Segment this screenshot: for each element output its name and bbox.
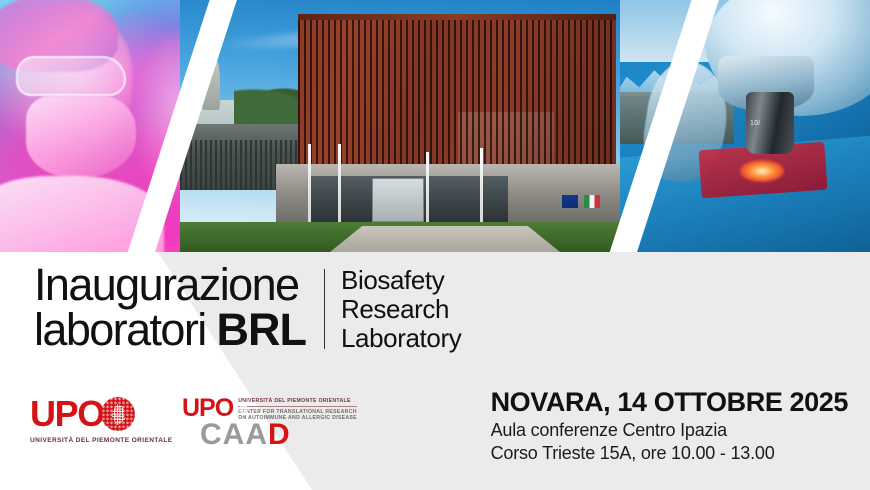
event-date: NOVARA, 14 OTTOBRE 2025 bbox=[491, 388, 848, 416]
caad-fine-line-1: UNIVERSITÀ DEL PIEMONTE ORIENTALE bbox=[238, 398, 357, 407]
upo-logo: UPO UNIVERSITÀ DEL PIEMONTE ORIENTALE bbox=[30, 396, 158, 444]
caad-fine-line-2: CENTER FOR TRANSLATIONAL RESEARCH bbox=[238, 409, 357, 416]
upo-letters: UPO bbox=[30, 396, 104, 432]
event-details: NOVARA, 14 OTTOBRE 2025 Aula conferenze … bbox=[491, 388, 848, 465]
title-divider-rule bbox=[324, 269, 325, 349]
subtitle-line-2: Research bbox=[341, 295, 461, 324]
title-line-2: laboratori BRL bbox=[34, 308, 306, 353]
title-brl-acronym: BRL bbox=[217, 304, 306, 355]
ppe-safety-goggles bbox=[16, 56, 126, 96]
caad-logo: UPO UNIVERSITÀ DEL PIEMONTE ORIENTALE CE… bbox=[182, 396, 352, 450]
illuminator-light bbox=[740, 160, 784, 182]
subtitle-line-1: Biosafety bbox=[341, 266, 461, 295]
objective-magnification-label: 10/ bbox=[750, 120, 790, 127]
italy-flag bbox=[584, 195, 600, 208]
title-block: Inaugurazione laboratori BRL Biosafety R… bbox=[34, 263, 461, 353]
brl-building-photo bbox=[180, 0, 690, 252]
title-line-1: Inaugurazione bbox=[34, 263, 306, 308]
upo-wordmark: UPO bbox=[30, 396, 158, 432]
poster-subtitle: Biosafety Research Laboratory bbox=[341, 266, 461, 353]
logo-row: UPO UNIVERSITÀ DEL PIEMONTE ORIENTALE UP… bbox=[30, 396, 352, 450]
subtitle-line-3: Laboratory bbox=[341, 324, 461, 353]
event-poster: 10/ Inaugurazione laboratori BRL Biosafe… bbox=[0, 0, 870, 490]
title-line-2-regular: laboratori bbox=[34, 304, 217, 355]
caad-wordmark: CAAD bbox=[200, 420, 352, 450]
ppe-face-mask bbox=[26, 96, 136, 178]
upo-caption: UNIVERSITÀ DEL PIEMONTE ORIENTALE bbox=[30, 437, 158, 444]
event-address-and-time: Corso Trieste 15A, ore 10.00 - 13.00 bbox=[491, 442, 848, 465]
entrance-plaza bbox=[330, 226, 560, 252]
event-venue: Aula conferenze Centro Ipazia bbox=[491, 419, 848, 442]
photo-band: 10/ bbox=[0, 0, 870, 252]
caad-word-main: CAA bbox=[200, 418, 268, 451]
eu-flag bbox=[562, 195, 578, 208]
building-entrance bbox=[372, 178, 424, 222]
poster-title: Inaugurazione laboratori BRL bbox=[34, 263, 306, 352]
upo-halftone-circle-icon bbox=[101, 397, 135, 431]
caad-word-accent: D bbox=[268, 418, 291, 451]
